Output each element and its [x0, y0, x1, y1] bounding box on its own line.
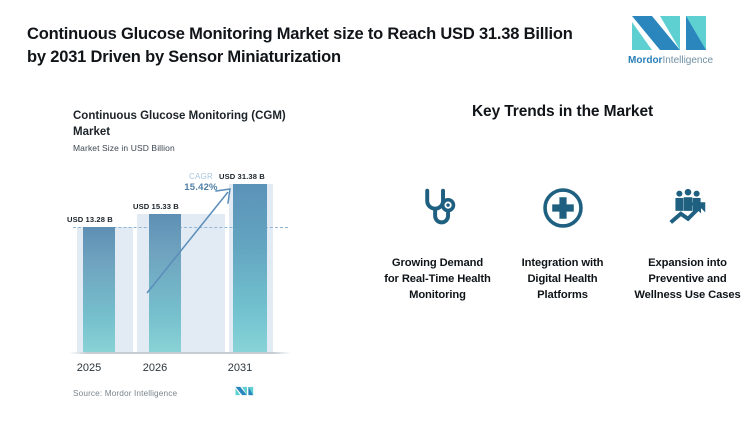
x-tick-2031: 2031: [215, 362, 265, 374]
trend-label-3: Expansion into Preventive and Wellness U…: [634, 255, 742, 303]
key-trends-panel: Key Trends in the Market Growing Demand …: [375, 100, 750, 400]
cagr-value: 15.42%: [171, 182, 231, 193]
stethoscope-icon: [415, 185, 461, 231]
mordor-m-logo-icon: [630, 14, 722, 52]
source-mordor-logo-icon: [235, 384, 257, 398]
source-note: Source: Mordor Intelligence: [73, 388, 177, 398]
brand-logo: MordorIntelligence: [620, 14, 732, 72]
value-label-2025: USD 13.28 B: [67, 215, 113, 224]
x-tick-2025: 2025: [65, 362, 113, 374]
cagr-caption: CAGR: [171, 171, 231, 182]
brand-suffix: Intelligence: [662, 55, 713, 66]
trend-label-1: Growing Demand for Real-Time Health Moni…: [384, 255, 492, 303]
people-growth-chart-icon: [665, 185, 711, 231]
x-axis-line: [69, 352, 291, 354]
value-label-2026: USD 15.33 B: [133, 202, 179, 211]
bar-2026: [149, 214, 181, 354]
chart-title: Continuous Glucose Monitoring (CGM) Mark…: [73, 108, 313, 140]
trend-item-1: Growing Demand for Real-Time Health Moni…: [375, 185, 500, 303]
bar-2031: [233, 184, 267, 354]
header: Continuous Glucose Monitoring Market siz…: [0, 0, 750, 88]
trend-label-2: Integration with Digital Health Platform…: [509, 255, 617, 303]
bar-2025: [83, 227, 115, 354]
brand-name: Mordor: [628, 55, 662, 66]
trends-title: Key Trends in the Market: [375, 103, 750, 121]
cagr-annotation: CAGR 15.42%: [171, 171, 231, 193]
x-tick-2026: 2026: [131, 362, 179, 374]
trends-row: Growing Demand for Real-Time Health Moni…: [375, 185, 750, 303]
infographic-page: Continuous Glucose Monitoring Market siz…: [0, 0, 750, 425]
brand-logo-text: MordorIntelligence: [628, 55, 728, 67]
chart-subtitle: Market Size in USD Billion: [73, 143, 175, 153]
medical-cross-circle-icon: [540, 185, 586, 231]
chart-panel: Continuous Glucose Monitoring (CGM) Mark…: [55, 100, 355, 410]
bar-chart-plot: USD 13.28 B USD 15.33 B USD 31.38 B CAGR…: [73, 162, 288, 354]
trend-item-3: Expansion into Preventive and Wellness U…: [625, 185, 750, 303]
trend-item-2: Integration with Digital Health Platform…: [500, 185, 625, 303]
page-title: Continuous Glucose Monitoring Market siz…: [27, 23, 587, 69]
